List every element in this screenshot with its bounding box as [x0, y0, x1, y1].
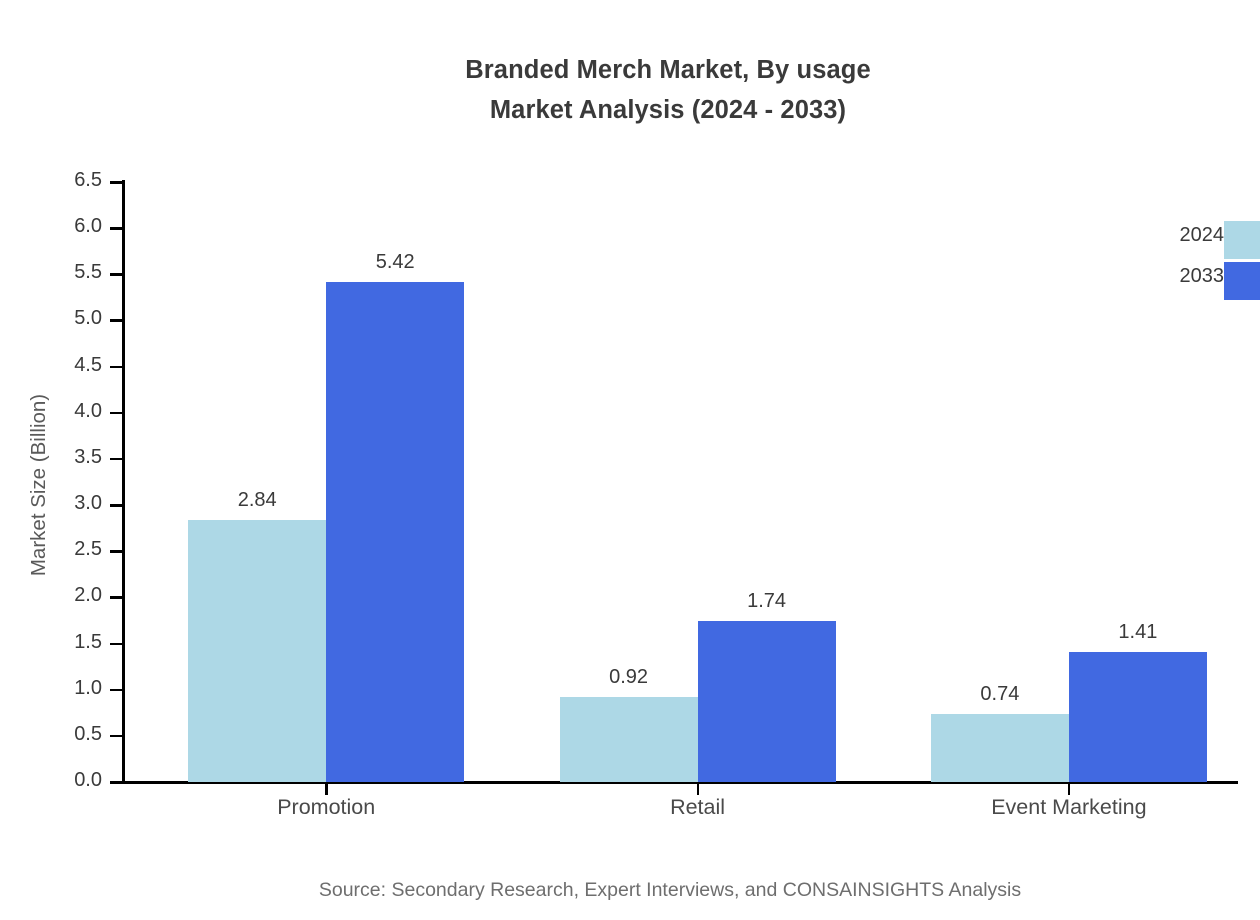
- x-tick-mark: [1068, 782, 1071, 795]
- y-tick-mark: [110, 458, 122, 461]
- bar-value-label: 1.74: [747, 590, 786, 613]
- y-tick-label: 6.0: [40, 215, 102, 238]
- x-tick-mark: [697, 782, 700, 795]
- x-tick-label-event-marketing: Event Marketing: [899, 795, 1239, 820]
- bar-value-label: 0.74: [980, 683, 1019, 706]
- y-tick-mark: [110, 227, 122, 230]
- chart-legend: 20242033: [1100, 215, 1260, 297]
- bar-event-marketing-2024[interactable]: 0.74: [931, 714, 1069, 782]
- y-tick-label: 1.5: [40, 631, 102, 654]
- bar-retail-2033[interactable]: 1.74: [698, 621, 836, 782]
- chart-title-line2: Market Analysis (2024 - 2033): [0, 90, 1260, 130]
- y-tick-label: 0.0: [40, 769, 102, 792]
- y-tick-mark: [110, 504, 122, 507]
- y-tick-label: 1.0: [40, 677, 102, 700]
- y-tick-mark: [110, 181, 122, 184]
- bar-value-label: 0.92: [609, 666, 648, 689]
- chart-title-line1: Branded Merch Market, By usage: [465, 56, 870, 84]
- source-note: Source: Secondary Research, Expert Inter…: [0, 879, 1260, 902]
- y-tick-label: 2.5: [40, 538, 102, 561]
- y-tick-label: 5.5: [40, 261, 102, 284]
- y-tick-mark: [110, 596, 122, 599]
- y-tick-label: 3.0: [40, 492, 102, 515]
- bar-event-marketing-2033[interactable]: 1.41: [1069, 652, 1207, 782]
- bar-promotion-2024[interactable]: 2.84: [188, 520, 326, 782]
- chart-figure: Branded Merch Market, By usage Market An…: [0, 0, 1260, 920]
- legend-swatch: [1224, 262, 1260, 300]
- bar-value-label: 2.84: [238, 489, 277, 512]
- y-tick-label: 4.0: [40, 400, 102, 423]
- y-tick-label: 0.5: [40, 723, 102, 746]
- y-tick-mark: [110, 412, 122, 415]
- x-tick-label-promotion: Promotion: [156, 795, 496, 820]
- legend-label: 2024: [1180, 224, 1225, 247]
- y-tick-mark: [110, 689, 122, 692]
- legend-item-2024[interactable]: 2024: [1100, 215, 1260, 256]
- y-tick-mark: [110, 735, 122, 738]
- bar-retail-2024[interactable]: 0.92: [560, 697, 698, 782]
- y-tick-label: 3.5: [40, 446, 102, 469]
- bar-promotion-2033[interactable]: 5.42: [326, 282, 464, 782]
- legend-item-2033[interactable]: 2033: [1100, 256, 1260, 297]
- y-tick-mark: [110, 366, 122, 369]
- bar-value-label: 5.42: [376, 251, 415, 274]
- y-tick-mark: [110, 550, 122, 553]
- y-tick-label: 2.0: [40, 584, 102, 607]
- y-tick-mark: [110, 273, 122, 276]
- x-tick-label-retail: Retail: [528, 795, 868, 820]
- chart-title: Branded Merch Market, By usage Market An…: [0, 50, 1260, 130]
- legend-swatch: [1224, 221, 1260, 259]
- y-tick-label: 4.5: [40, 354, 102, 377]
- y-tick-label: 5.0: [40, 307, 102, 330]
- y-tick-mark: [110, 319, 122, 322]
- y-tick-label: 6.5: [40, 169, 102, 192]
- y-tick-mark: [110, 643, 122, 646]
- plot-area: 2.845.420.921.740.741.41: [122, 182, 1236, 782]
- bar-value-label: 1.41: [1118, 621, 1157, 644]
- legend-label: 2033: [1180, 265, 1225, 288]
- y-tick-mark: [110, 781, 122, 784]
- x-tick-mark: [325, 782, 328, 795]
